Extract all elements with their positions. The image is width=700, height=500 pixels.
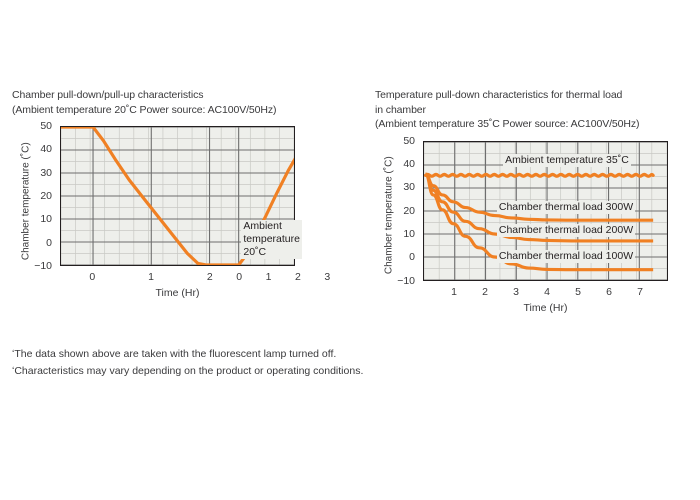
y-tick-50: 50 — [403, 135, 415, 146]
y-tick-20: 20 — [403, 205, 415, 216]
chart-body-left: Chamber temperature (˚C) −1001020304050 … — [12, 126, 342, 326]
plot-wrap-right: Ambient temperature 35˚CChamber thermal … — [423, 141, 668, 281]
x-tick-2: 2 — [207, 271, 213, 283]
plot-area-right: Ambient temperature 35˚CChamber thermal … — [423, 141, 668, 281]
footnote-1: ʻThe data shown above are taken with the… — [12, 346, 572, 363]
footnotes: ʻThe data shown above are taken with the… — [12, 346, 572, 380]
y-tick-30: 30 — [40, 167, 52, 178]
footnote-2: ʻCharacteristics may vary depending on t… — [12, 363, 572, 380]
annotation-3: Chamber thermal load 100W — [497, 250, 635, 263]
y-tick-0: 0 — [409, 252, 415, 263]
annotation-0: Ambient temperature 35˚C — [503, 154, 631, 167]
x-tick-3: 0 — [236, 271, 242, 283]
y-tick--10: −10 — [397, 275, 415, 286]
y-tick-20: 20 — [40, 191, 52, 202]
x-tick-labels-right: 1234567 — [423, 286, 668, 302]
x-tick-5: 6 — [606, 286, 612, 298]
x-tick-0: 1 — [451, 286, 457, 298]
y-tick-10: 10 — [403, 229, 415, 240]
y-tick-labels-right: −1001020304050 — [375, 141, 419, 281]
x-axis-title-left: Time (Hr) — [156, 287, 200, 299]
y-tick-40: 40 — [40, 144, 52, 155]
x-axis-title-right: Time (Hr) — [524, 302, 568, 314]
annotation-2: Chamber thermal load 200W — [497, 224, 635, 237]
y-tick-40: 40 — [403, 159, 415, 170]
x-tick-labels-left: 0120123 — [60, 271, 295, 287]
chart-panel-thermal-load: Temperature pull-down characteristics fo… — [375, 88, 693, 341]
y-tick-30: 30 — [403, 182, 415, 193]
x-tick-1: 1 — [148, 271, 154, 283]
annotation-1: Chamber thermal load 300W — [497, 201, 635, 214]
x-tick-0: 0 — [89, 271, 95, 283]
chart-title-left: Chamber pull-down/pull-up characteristic… — [12, 88, 342, 117]
y-tick-labels-left: −1001020304050 — [12, 126, 56, 266]
figure-root: Chamber pull-down/pull-up characteristic… — [0, 0, 700, 500]
x-tick-1: 2 — [482, 286, 488, 298]
x-tick-6: 3 — [324, 271, 330, 283]
x-tick-2: 3 — [513, 286, 519, 298]
chart-body-right: Chamber temperature (˚C) −1001020304050 … — [375, 141, 693, 341]
x-tick-6: 7 — [637, 286, 643, 298]
x-tick-5: 2 — [295, 271, 301, 283]
chart-title-right: Temperature pull-down characteristics fo… — [375, 88, 693, 132]
y-tick-50: 50 — [40, 121, 52, 132]
y-tick-0: 0 — [46, 237, 52, 248]
x-tick-3: 4 — [544, 286, 550, 298]
x-tick-4: 5 — [575, 286, 581, 298]
annotation-0: Ambient temperature 20˚C — [241, 220, 302, 259]
y-tick-10: 10 — [40, 214, 52, 225]
plot-area-left: Ambient temperature 20˚C — [60, 126, 295, 266]
y-tick--10: −10 — [34, 261, 52, 272]
chart-panel-pulldown-pullup: Chamber pull-down/pull-up characteristic… — [12, 88, 342, 326]
plot-wrap-left: Ambient temperature 20˚C 0120123 Time (H… — [60, 126, 295, 266]
x-tick-4: 1 — [266, 271, 272, 283]
